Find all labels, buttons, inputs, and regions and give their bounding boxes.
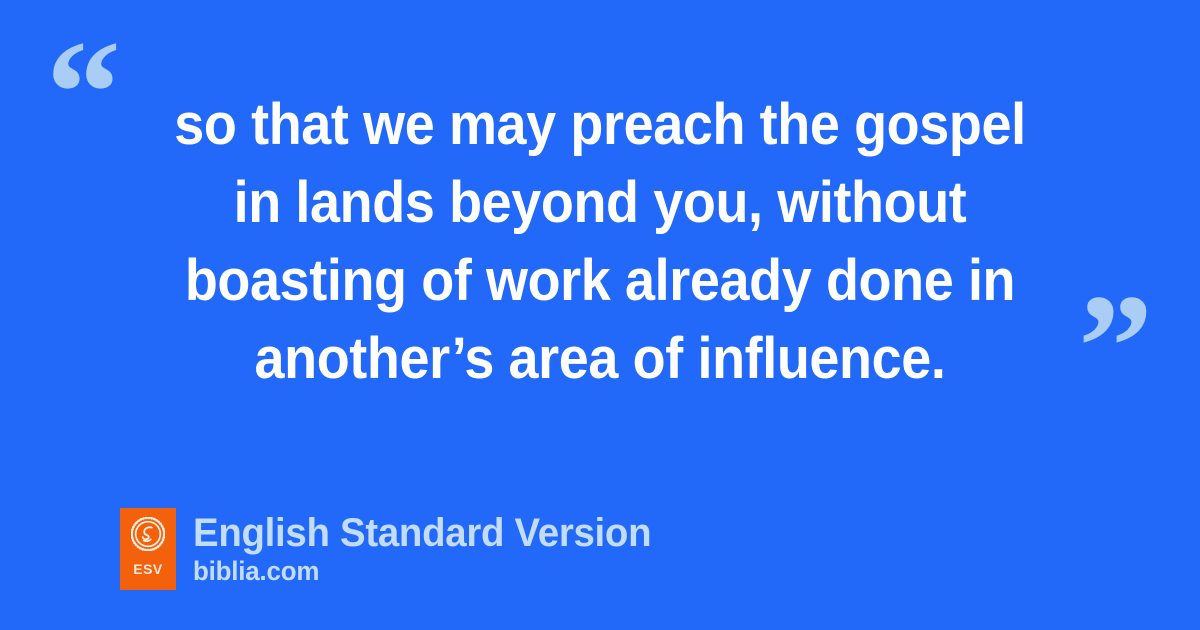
- quote-line: in lands beyond you, without: [126, 164, 1075, 242]
- brand-website-url[interactable]: biblia.com: [193, 556, 651, 587]
- quote-line: so that we may preach the gospel: [126, 86, 1075, 164]
- quote-line: boasting of work already done in: [126, 242, 1075, 320]
- esv-seal-icon: [131, 517, 165, 551]
- brand-text-group: English Standard Version biblia.com: [193, 510, 670, 587]
- quote-text-block: so that we may preach the gospel in land…: [90, 86, 1110, 398]
- closing-quotation-mark-icon: ”: [1078, 272, 1151, 422]
- esv-logo: ESV: [120, 508, 176, 590]
- brand-footer: ESV English Standard Version biblia.com: [120, 508, 670, 590]
- esv-logo-abbreviation: ESV: [133, 562, 163, 576]
- verse-image-card: “ so that we may preach the gospel in la…: [0, 0, 1200, 630]
- quote-line: another’s area of influence.: [126, 320, 1075, 398]
- bible-version-title: English Standard Version: [193, 510, 651, 556]
